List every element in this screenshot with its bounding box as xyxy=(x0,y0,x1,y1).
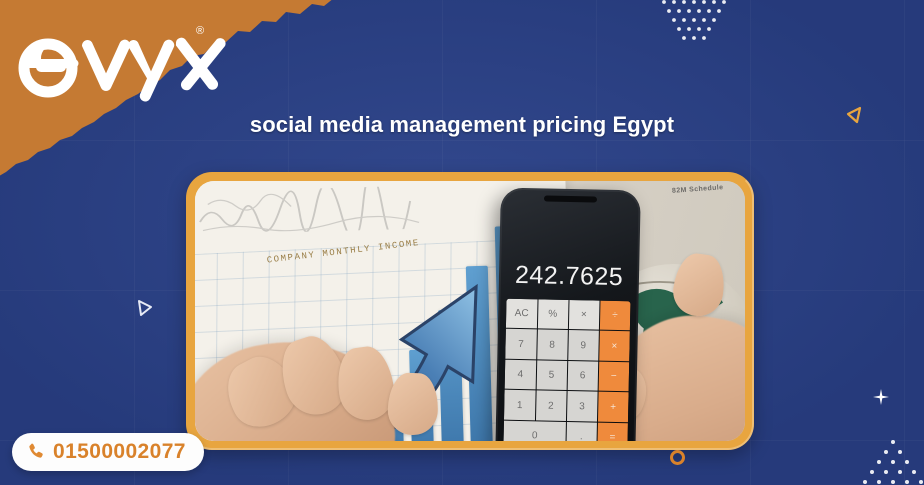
dot-triangle-top-right-icon xyxy=(660,0,732,42)
calculator-key-0[interactable]: 0 xyxy=(503,420,565,441)
calculator-key-AC[interactable]: AC xyxy=(506,298,537,328)
hero-photo-card: COMPANY MONTHLY INCOME xyxy=(186,172,754,450)
phone-number-badge[interactable]: 01500002077 xyxy=(12,433,204,471)
calculator-key-×[interactable]: × xyxy=(568,300,599,330)
calculator-key-3[interactable]: 3 xyxy=(566,391,597,421)
plus-marker-icon xyxy=(872,388,890,406)
smartphone: 242.7625 AC%×÷789×456−123+0.= xyxy=(495,187,641,441)
hero-photo: COMPANY MONTHLY INCOME xyxy=(195,181,745,441)
page-title: social media management pricing Egypt xyxy=(0,112,924,138)
calculator-key-5[interactable]: 5 xyxy=(536,360,567,390)
calculator-key-1[interactable]: 1 xyxy=(504,390,535,420)
calculator-key-7[interactable]: 7 xyxy=(505,329,536,359)
triangle-marker-right-icon xyxy=(843,105,863,125)
calculator-key-2[interactable]: 2 xyxy=(535,390,566,420)
calculator-key-.[interactable]: . xyxy=(565,422,596,441)
phone-notch xyxy=(544,195,597,202)
phone-icon xyxy=(26,442,46,462)
calculator-key-8[interactable]: 8 xyxy=(536,329,567,359)
calculator-key-4[interactable]: 4 xyxy=(505,359,536,389)
calculator-key-−[interactable]: − xyxy=(598,361,629,391)
calculator-key-+[interactable]: + xyxy=(597,392,628,422)
finger-4 xyxy=(386,373,438,437)
calculator-key-×[interactable]: × xyxy=(598,331,629,361)
ring-marker-icon xyxy=(670,450,685,465)
dot-triangle-bottom-right-icon xyxy=(858,438,924,485)
calculator-display: 242.7625 xyxy=(498,260,639,292)
calculator-keypad[interactable]: AC%×÷789×456−123+0.= xyxy=(503,298,630,441)
triangle-marker-left-icon xyxy=(135,298,155,318)
calculator-key-=[interactable]: = xyxy=(597,422,628,441)
calculator-key-%[interactable]: % xyxy=(537,299,568,329)
handwriting-scribble xyxy=(195,184,472,235)
calculator-key-÷[interactable]: ÷ xyxy=(599,300,630,330)
promo-banner: ® social media management pricing Egypt … xyxy=(0,0,924,485)
registered-mark: ® xyxy=(196,26,204,37)
phone-number-text: 01500002077 xyxy=(53,440,186,464)
evyx-logo xyxy=(16,24,226,104)
calculator-key-6[interactable]: 6 xyxy=(567,361,598,391)
calculator-key-9[interactable]: 9 xyxy=(567,330,598,360)
